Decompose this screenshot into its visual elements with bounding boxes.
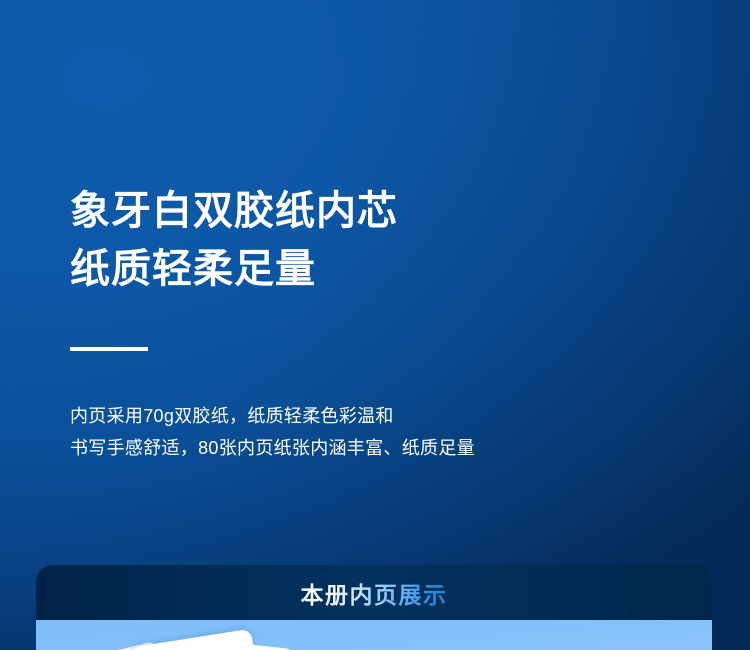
title-divider-rule	[70, 347, 148, 351]
product-detail-page: 象牙白双胶纸内芯 纸质轻柔足量 内页采用70g双胶纸，纸质轻柔色彩温和 书写手感…	[0, 0, 750, 650]
hero-heading-block: 象牙白双胶纸内芯 纸质轻柔足量	[70, 182, 398, 298]
hero-description-line-2: 书写手感舒适，80张内页纸张内涵丰富、纸质足量	[70, 432, 475, 464]
hero-description-block: 内页采用70g双胶纸，纸质轻柔色彩温和 书写手感舒适，80张内页纸张内涵丰富、纸…	[70, 400, 475, 464]
hero-title-line-1: 象牙白双胶纸内芯	[70, 182, 398, 240]
inner-pages-panel-header: 本册内页展示	[36, 565, 712, 620]
paper-sheet-front-icon	[231, 643, 296, 650]
inner-pages-panel-title: 本册内页展示	[301, 576, 448, 610]
hero-description-line-1: 内页采用70g双胶纸，纸质轻柔色彩温和	[70, 400, 475, 432]
inner-pages-gallery	[36, 620, 712, 650]
inner-pages-panel: 本册内页展示	[36, 565, 712, 650]
hero-title-line-2: 纸质轻柔足量	[70, 240, 398, 298]
